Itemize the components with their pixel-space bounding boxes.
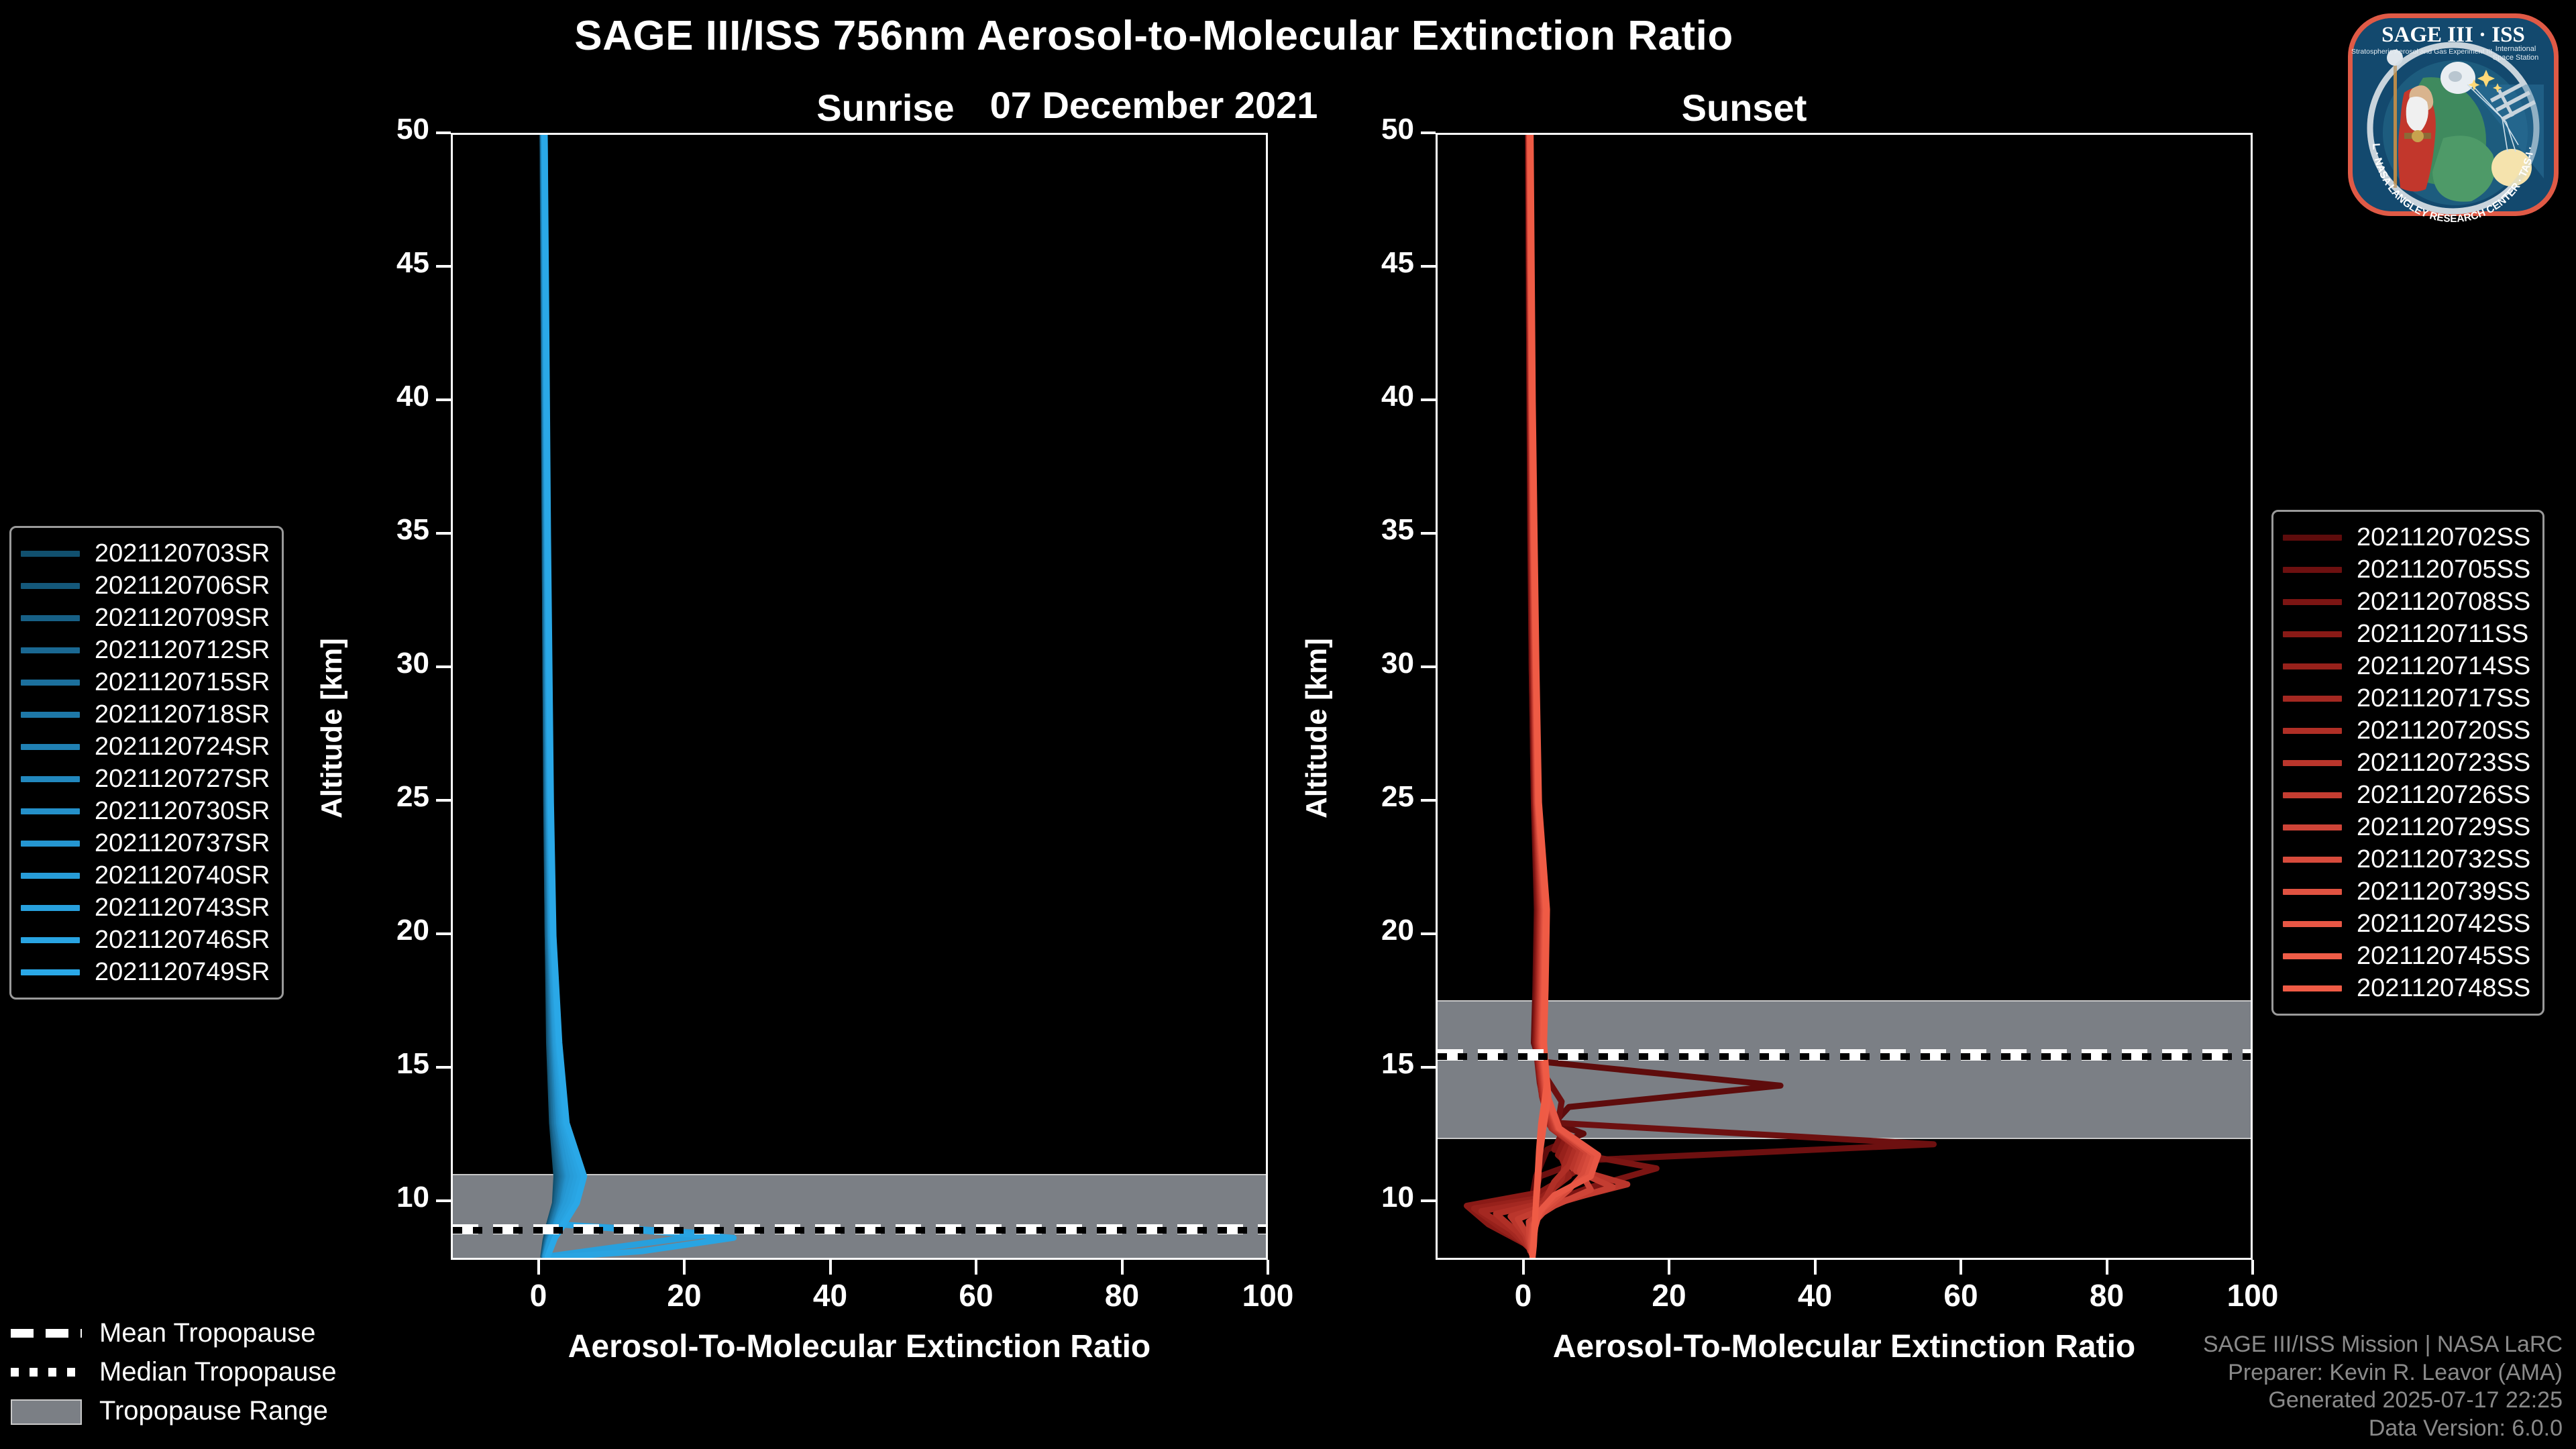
series-line (1474, 135, 1568, 1246)
series-line (545, 135, 716, 1256)
legend-event-label: 2021120714SS (2357, 652, 2530, 681)
credit-mission: SAGE III/ISS Mission | NASA LaRC (2203, 1331, 2563, 1358)
legend-item[interactable]: 2021120708SS (2283, 586, 2530, 618)
x-tick-mark (975, 1260, 977, 1275)
x-tick-mark (1668, 1260, 1670, 1275)
legend-color-swatch-icon (21, 776, 80, 782)
x-tick-mark (1814, 1260, 1817, 1275)
legend-item[interactable]: 2021120706SR (21, 570, 270, 602)
y-tick-label: 40 (349, 380, 429, 413)
x-tick-mark (1121, 1260, 1124, 1275)
legend-item[interactable]: 2021120742SS (2283, 908, 2530, 940)
legend-event-label: 2021120749SR (95, 958, 270, 987)
legend-event-label: 2021120740SR (95, 861, 270, 890)
legend-color-swatch-icon (2283, 985, 2342, 991)
x-tick-mark (1522, 1260, 1525, 1275)
y-tick-label: 40 (1334, 380, 1414, 413)
legend-color-swatch-icon (2283, 599, 2342, 605)
y-tick-label: 15 (349, 1047, 429, 1081)
y-tick-label: 15 (1334, 1047, 1414, 1081)
x-tick-mark (1960, 1260, 1962, 1275)
y-tick-label: 20 (1334, 914, 1414, 947)
legend-item[interactable]: 2021120739SS (2283, 875, 2530, 908)
x-tick-label: 100 (1221, 1277, 1315, 1313)
series-line (1528, 135, 1934, 1243)
y-tick-mark (436, 1066, 451, 1069)
x-tick-label: 0 (492, 1277, 586, 1313)
dotted-line-icon (11, 1364, 82, 1379)
chart-date-subtitle: 07 December 2021 (0, 83, 2308, 127)
y-tick-mark (1421, 799, 1436, 802)
legend-event-label: 2021120711SS (2357, 620, 2528, 649)
legend-item-tropopause-range: Tropopause Range (11, 1391, 337, 1430)
legend-item[interactable]: 2021120732SS (2283, 843, 2530, 875)
series-line (1528, 135, 1780, 1243)
legend-color-swatch-icon (21, 808, 80, 814)
legend-item[interactable]: 2021120743SR (21, 892, 270, 924)
legend-color-swatch-icon (2283, 760, 2342, 766)
legend-event-label: 2021120702SS (2357, 523, 2530, 552)
page-title: SAGE III/ISS 756nm Aerosol-to-Molecular … (0, 12, 2308, 60)
legend-color-swatch-icon (2283, 567, 2342, 573)
median-tropopause-dots (453, 1227, 1266, 1234)
sunrise-series-curves (453, 135, 1266, 1258)
legend-event-label: 2021120742SS (2357, 910, 2530, 938)
legend-event-label: 2021120715SR (95, 668, 270, 697)
legend-color-swatch-icon (2283, 663, 2342, 669)
y-tick-label: 45 (349, 246, 429, 280)
x-tick-label: 20 (637, 1277, 731, 1313)
legend-label-range: Tropopause Range (99, 1396, 328, 1426)
legend-item[interactable]: 2021120740SR (21, 859, 270, 892)
legend-event-label: 2021120724SR (95, 733, 270, 761)
legend-event-label: 2021120727SR (95, 765, 270, 794)
legend-event-label: 2021120708SS (2357, 588, 2530, 616)
legend-label-mean: Mean Tropopause (99, 1318, 315, 1348)
y-tick-label: 10 (349, 1181, 429, 1214)
y-tick-label: 45 (1334, 246, 1414, 280)
credit-data-version: Data Version: 6.0.0 (2203, 1415, 2563, 1442)
legend-event-label: 2021120720SS (2357, 716, 2530, 745)
y-tick-label: 25 (349, 780, 429, 814)
legend-color-swatch-icon (21, 905, 80, 911)
legend-event-label: 2021120717SS (2357, 684, 2530, 713)
legend-color-swatch-icon (21, 583, 80, 589)
median-tropopause-dots (1438, 1053, 2251, 1060)
y-tick-mark (1421, 932, 1436, 935)
legend-color-swatch-icon (2283, 696, 2342, 702)
y-tick-mark (436, 398, 451, 401)
dashed-line-icon (11, 1326, 82, 1340)
x-tick-label: 60 (1914, 1277, 2008, 1313)
sunrise-x-axis-label: Aerosol-To-Molecular Extinction Ratio (451, 1328, 1268, 1365)
y-tick-label: 10 (1334, 1181, 1414, 1214)
y-tick-mark (436, 665, 451, 668)
sunrise-plot-area[interactable] (451, 133, 1268, 1260)
legend-item[interactable]: 2021120729SS (2283, 811, 2530, 843)
sunset-legend[interactable]: 2021120702SS2021120705SS2021120708SS2021… (2271, 510, 2544, 1016)
sunset-panel-title: Sunset (1543, 86, 1945, 129)
legend-color-swatch-icon (2283, 792, 2342, 798)
legend-event-label: 2021120709SR (95, 604, 270, 633)
y-tick-label: 35 (1334, 513, 1414, 547)
y-tick-mark (1421, 1066, 1436, 1069)
legend-item[interactable]: 2021120746SR (21, 924, 270, 956)
tropopause-legend: Mean Tropopause Median Tropopause Tropop… (11, 1313, 337, 1430)
y-tick-mark (1421, 532, 1436, 535)
legend-color-swatch-icon (21, 712, 80, 718)
legend-item[interactable]: 2021120720SS (2283, 714, 2530, 747)
legend-event-label: 2021120729SS (2357, 813, 2530, 842)
legend-event-label: 2021120703SR (95, 539, 270, 568)
legend-event-label: 2021120705SS (2357, 555, 2530, 584)
legend-color-swatch-icon (2283, 953, 2342, 959)
legend-item-median-tropopause: Median Tropopause (11, 1352, 337, 1391)
legend-item[interactable]: 2021120711SS (2283, 618, 2530, 650)
legend-color-swatch-icon (2283, 857, 2342, 863)
y-tick-mark (436, 932, 451, 935)
legend-color-swatch-icon (2283, 535, 2342, 541)
legend-item[interactable]: 2021120737SR (21, 827, 270, 859)
x-tick-mark (829, 1260, 832, 1275)
sunrise-legend[interactable]: 2021120703SR2021120706SR2021120709SR2021… (9, 526, 284, 1000)
legend-event-label: 2021120746SR (95, 926, 270, 955)
sunset-series-curves (1438, 135, 2251, 1258)
legend-item[interactable]: 2021120718SR (21, 698, 270, 731)
legend-color-swatch-icon (21, 969, 80, 975)
legend-color-swatch-icon (21, 937, 80, 943)
legend-item[interactable]: 2021120712SR (21, 634, 270, 666)
legend-event-label: 2021120732SS (2357, 845, 2530, 874)
y-tick-mark (436, 532, 451, 535)
legend-item[interactable]: 2021120714SS (2283, 650, 2530, 682)
legend-item[interactable]: 2021120702SS (2283, 521, 2530, 553)
sunset-plot-area[interactable] (1436, 133, 2253, 1260)
x-tick-label: 20 (1622, 1277, 1716, 1313)
x-tick-label: 40 (1768, 1277, 1862, 1313)
legend-color-swatch-icon (2283, 824, 2342, 830)
x-tick-mark (2106, 1260, 2108, 1275)
credits-block: SAGE III/ISS Mission | NASA LaRC Prepare… (2203, 1331, 2563, 1442)
x-tick-label: 40 (784, 1277, 877, 1313)
y-tick-label: 25 (1334, 780, 1414, 814)
legend-item[interactable]: 2021120723SS (2283, 747, 2530, 779)
legend-item[interactable]: 2021120717SS (2283, 682, 2530, 714)
legend-item[interactable]: 2021120715SR (21, 666, 270, 698)
y-tick-mark (436, 265, 451, 268)
logo-subtitle: Stratospheric Aerosol and Gas Experiment… (2351, 48, 2492, 56)
legend-color-swatch-icon (2283, 889, 2342, 895)
legend-color-swatch-icon (21, 615, 80, 621)
legend-color-swatch-icon (21, 873, 80, 879)
sunset-x-axis-label: Aerosol-To-Molecular Extinction Ratio (1436, 1328, 2253, 1365)
y-tick-label: 35 (349, 513, 429, 547)
credit-preparer: Preparer: Kevin R. Leavor (AMA) (2203, 1359, 2563, 1387)
sunrise-panel-title: Sunrise (684, 86, 1087, 129)
legend-color-swatch-icon (21, 841, 80, 847)
y-tick-label: 50 (349, 113, 429, 146)
y-tick-mark (1421, 265, 1436, 268)
sage-iii-iss-logo-icon: SAGE III · ISS Stratospheric Aerosol and… (2343, 4, 2564, 225)
y-tick-mark (1421, 1199, 1436, 1202)
legend-color-swatch-icon (21, 647, 80, 653)
series-line (1467, 135, 1576, 1246)
x-tick-label: 80 (2060, 1277, 2154, 1313)
legend-item[interactable]: 2021120703SR (21, 537, 270, 570)
legend-item[interactable]: 2021120745SS (2283, 940, 2530, 972)
legend-item[interactable]: 2021120748SS (2283, 972, 2530, 1004)
legend-event-label: 2021120748SS (2357, 974, 2530, 1003)
legend-item[interactable]: 2021120727SR (21, 763, 270, 795)
legend-event-label: 2021120706SR (95, 572, 270, 600)
legend-event-label: 2021120745SS (2357, 942, 2530, 971)
legend-item-mean-tropopause: Mean Tropopause (11, 1313, 337, 1352)
y-tick-label: 20 (349, 914, 429, 947)
legend-event-label: 2021120718SR (95, 700, 270, 729)
y-tick-mark (436, 799, 451, 802)
y-tick-mark (436, 1199, 451, 1202)
y-tick-label: 30 (1334, 647, 1414, 680)
legend-event-label: 2021120723SS (2357, 749, 2530, 777)
logo-title: SAGE III · ISS (2381, 23, 2525, 47)
legend-event-label: 2021120730SR (95, 797, 270, 826)
y-tick-mark (1421, 665, 1436, 668)
legend-item[interactable]: 2021120726SS (2283, 779, 2530, 811)
legend-item[interactable]: 2021120705SS (2283, 553, 2530, 586)
x-tick-mark (537, 1260, 540, 1275)
legend-item[interactable]: 2021120730SR (21, 795, 270, 827)
gray-band-swatch-icon (11, 1403, 82, 1418)
credit-generated: Generated 2025-07-17 22:25 (2203, 1387, 2563, 1414)
legend-item[interactable]: 2021120724SR (21, 731, 270, 763)
legend-label-median: Median Tropopause (99, 1357, 337, 1387)
legend-color-swatch-icon (21, 744, 80, 750)
svg-text:Space Station: Space Station (2493, 54, 2539, 62)
x-tick-mark (2251, 1260, 2254, 1275)
legend-item[interactable]: 2021120709SR (21, 602, 270, 634)
y-tick-label: 30 (349, 647, 429, 680)
legend-color-swatch-icon (2283, 631, 2342, 637)
series-line (545, 135, 734, 1258)
svg-text:International: International (2495, 45, 2536, 53)
legend-event-label: 2021120739SS (2357, 877, 2530, 906)
x-tick-label: 100 (2206, 1277, 2300, 1313)
y-tick-mark (1421, 131, 1436, 134)
x-tick-label: 60 (929, 1277, 1023, 1313)
y-tick-mark (1421, 398, 1436, 401)
legend-event-label: 2021120737SR (95, 829, 270, 858)
legend-color-swatch-icon (21, 680, 80, 686)
legend-color-swatch-icon (2283, 921, 2342, 927)
x-tick-label: 0 (1477, 1277, 1570, 1313)
legend-color-swatch-icon (2283, 728, 2342, 734)
x-tick-mark (683, 1260, 686, 1275)
legend-event-label: 2021120743SR (95, 894, 270, 922)
y-tick-label: 50 (1334, 113, 1414, 146)
legend-color-swatch-icon (21, 551, 80, 557)
legend-event-label: 2021120712SR (95, 636, 270, 665)
x-tick-mark (1267, 1260, 1269, 1275)
legend-event-label: 2021120726SS (2357, 781, 2530, 810)
y-tick-mark (436, 131, 451, 134)
legend-item[interactable]: 2021120749SR (21, 956, 270, 988)
x-tick-label: 80 (1075, 1277, 1169, 1313)
